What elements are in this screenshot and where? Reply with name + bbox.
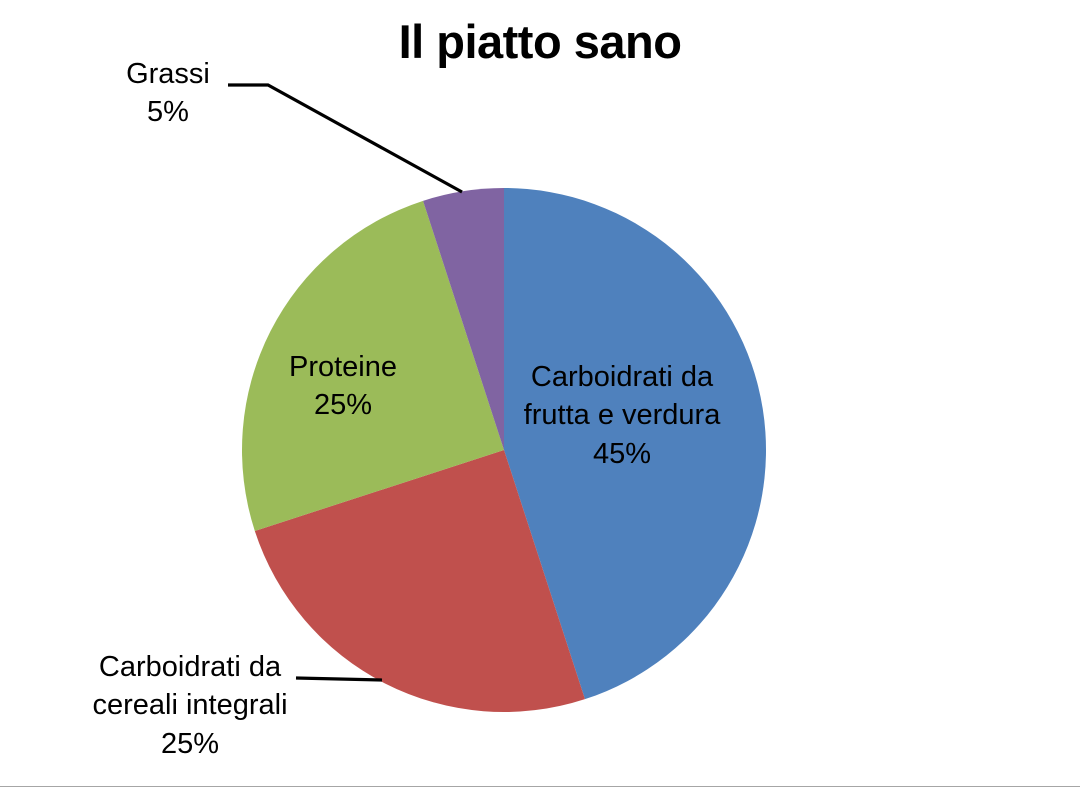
slice-label-proteine-name: Proteine — [248, 348, 438, 386]
bottom-divider — [0, 786, 1080, 787]
slice-label-proteine: Proteine 25% — [248, 348, 438, 425]
slice-label-carboidrati-cereali-line2: cereali integrali — [40, 686, 340, 724]
slice-label-carboidrati-cereali-integrali: Carboidrati da cereali integrali 25% — [40, 648, 340, 763]
slice-label-carboidrati-frutta-value: 45% — [482, 435, 762, 473]
slice-label-grassi-value: 5% — [78, 93, 258, 131]
slice-label-carboidrati-frutta-line2: frutta e verdura — [482, 396, 762, 434]
slice-label-carboidrati-cereali-value: 25% — [40, 725, 340, 763]
slice-label-grassi-name: Grassi — [78, 55, 258, 93]
slice-label-carboidrati-frutta-line1: Carboidrati da — [482, 358, 762, 396]
slice-label-carboidrati-frutta-verdura: Carboidrati da frutta e verdura 45% — [482, 358, 762, 473]
leader-line-grassi — [228, 85, 462, 192]
slice-label-proteine-value: 25% — [248, 386, 438, 424]
slice-label-grassi: Grassi 5% — [78, 55, 258, 132]
slice-label-carboidrati-cereali-line1: Carboidrati da — [40, 648, 340, 686]
